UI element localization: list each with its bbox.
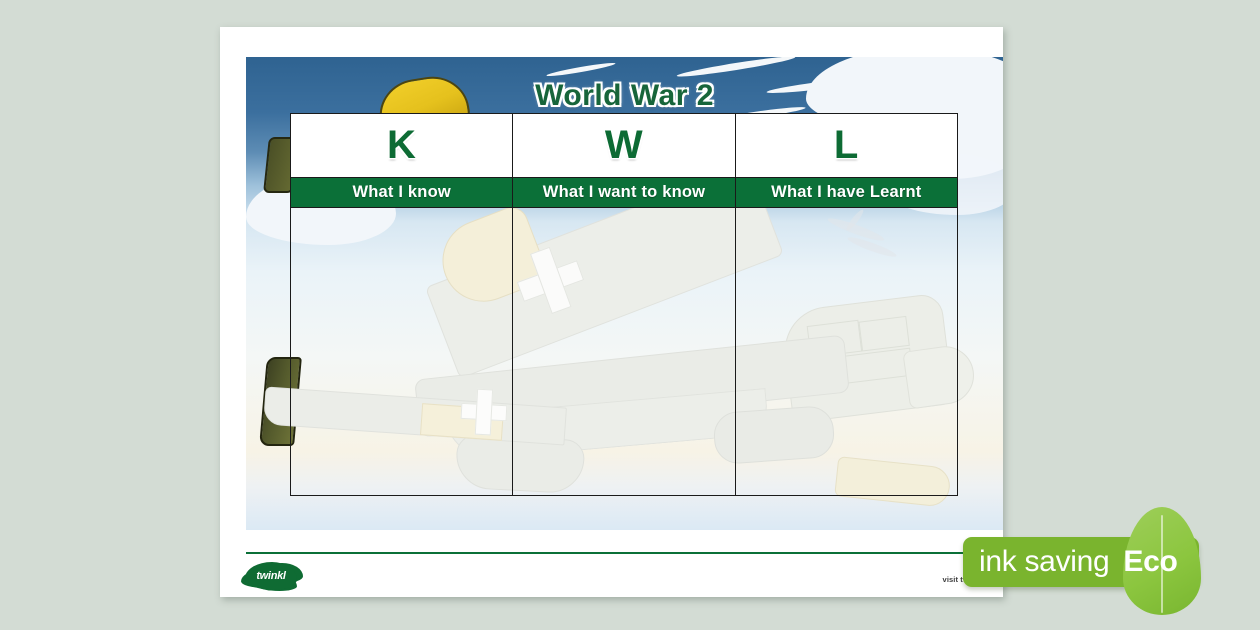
kwl-label-header-row: What I know What I want to know What I h… xyxy=(291,177,957,208)
kwl-letter-w: W xyxy=(605,123,643,168)
kwl-label-cell-k: What I know xyxy=(291,178,512,207)
page-title: World War 2 xyxy=(246,79,1003,113)
kwl-write-area-w[interactable] xyxy=(512,208,734,495)
kwl-label-what-i-want-to-know: What I want to know xyxy=(543,183,705,202)
twinkl-logo: twinkl xyxy=(245,562,297,590)
kwl-letter-cell-l: L xyxy=(735,114,957,177)
worksheet-artwork-panel: World War 2 K W L What I know xyxy=(246,57,1003,530)
kwl-letter-cell-k: K xyxy=(291,114,512,177)
kwl-label-cell-l: What I have Learnt xyxy=(735,178,957,207)
kwl-write-area-k[interactable] xyxy=(291,208,512,495)
eco-badge-eco-label: Eco xyxy=(1123,545,1177,579)
kwl-chart: K W L What I know What I want to know xyxy=(290,113,958,496)
kwl-letter-header-row: K W L xyxy=(291,114,957,177)
screenshot-root: World War 2 K W L What I know xyxy=(0,0,1260,630)
ink-saving-eco-badge: ink saving Eco xyxy=(963,534,1231,592)
worksheet-paper-sheet: World War 2 K W L What I know xyxy=(220,27,1003,597)
kwl-letter-k: K xyxy=(387,123,416,168)
eco-badge-text: ink saving Eco xyxy=(979,537,1231,587)
kwl-letter-l: L xyxy=(834,123,859,168)
kwl-label-what-i-know: What I know xyxy=(352,183,450,202)
kwl-letter-cell-w: W xyxy=(512,114,734,177)
kwl-write-area-row xyxy=(291,208,957,495)
kwl-label-what-i-have-learnt: What I have Learnt xyxy=(771,183,921,202)
kwl-label-cell-w: What I want to know xyxy=(512,178,734,207)
eco-badge-ink-saving-label: ink saving xyxy=(979,545,1109,579)
kwl-write-area-l[interactable] xyxy=(735,208,957,495)
footer-divider xyxy=(246,552,1003,554)
twinkl-logo-wordmark: twinkl xyxy=(245,562,297,590)
